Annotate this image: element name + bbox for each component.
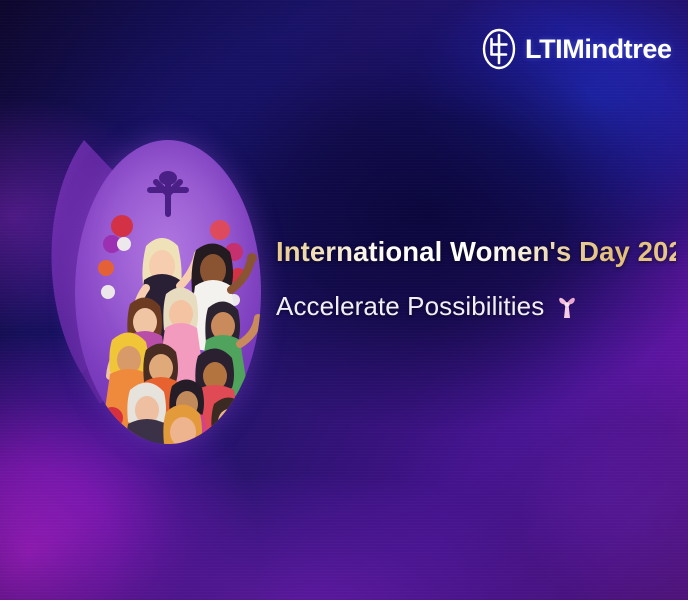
headline-line-2-row: Accelerate Possibilities [276, 293, 676, 320]
lt-circle-emblem-icon [482, 28, 516, 70]
ltimindtree-wordmark: LTIMindtree [525, 36, 672, 63]
headline-block: International Women's Day 2025 Accelerat… [276, 238, 676, 320]
headline-line-1: International Women's Day 2025 [276, 238, 676, 267]
women-crowd-figures [38, 118, 288, 466]
ltimindtree-logo: LTIMindtree [482, 28, 672, 70]
iwd-banner: LTIMindtree [0, 0, 688, 600]
pink-ribbon-icon [557, 294, 577, 320]
top-foliage-ornament [150, 171, 186, 214]
diverse-women-group-illustration [38, 118, 288, 466]
headline-line-2: Accelerate Possibilities [276, 293, 544, 320]
